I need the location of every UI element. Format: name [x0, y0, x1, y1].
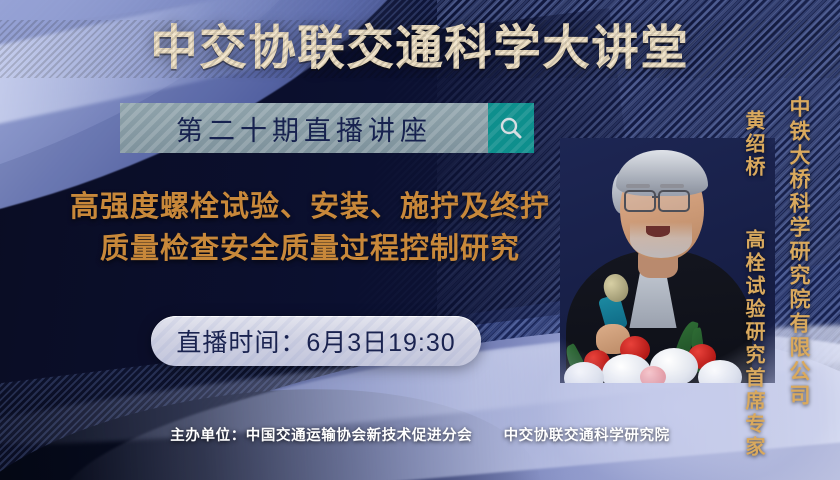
speaker-name-title: 黄绍桥 高栓试验研究首席专家	[739, 110, 768, 459]
lecture-title: 高强度螺栓试验、安装、施拧及终拧 质量检查安全质量过程控制研究	[10, 186, 610, 270]
photo-eyebrow-right	[660, 184, 684, 188]
episode-bar-body: 第二十期直播讲座	[120, 103, 488, 153]
live-time-badge: 直播时间：6月3日19:30	[151, 316, 481, 366]
speaker-organization: 中铁大桥科学研究院有限公司	[783, 96, 813, 408]
photo-eyebrow-left	[626, 184, 650, 188]
lecture-title-line1: 高强度螺栓试验、安装、施拧及终拧	[70, 191, 550, 223]
organizer-secondary: 中交协联交通科学研究院	[504, 428, 670, 444]
photo-mouth	[646, 226, 670, 237]
page-title: 中交协联交通科学大讲堂	[0, 20, 840, 76]
photo-glasses-right	[658, 190, 690, 212]
lecture-title-line2: 质量检查安全质量过程控制研究	[10, 228, 610, 270]
search-icon	[498, 115, 524, 141]
photo-glasses-left	[624, 190, 656, 212]
episode-label: 第二十期直播讲座	[176, 109, 432, 148]
organizer-primary: 主办单位：中国交通运输协会新技术促进分会	[170, 428, 472, 444]
search-button[interactable]	[488, 103, 534, 153]
webinar-poster: 中交协联交通科学大讲堂 第二十期直播讲座 高强度螺栓试验、安装、施拧及终拧 质量…	[0, 0, 840, 480]
organizer-footer: 主办单位：中国交通运输协会新技术促进分会 中交协联交通科学研究院	[0, 424, 840, 445]
live-time-label: 直播时间：6月3日19:30	[176, 323, 455, 359]
flower-pink	[640, 366, 666, 383]
photo-glasses-bridge	[652, 196, 660, 198]
episode-bar: 第二十期直播讲座	[120, 103, 534, 153]
